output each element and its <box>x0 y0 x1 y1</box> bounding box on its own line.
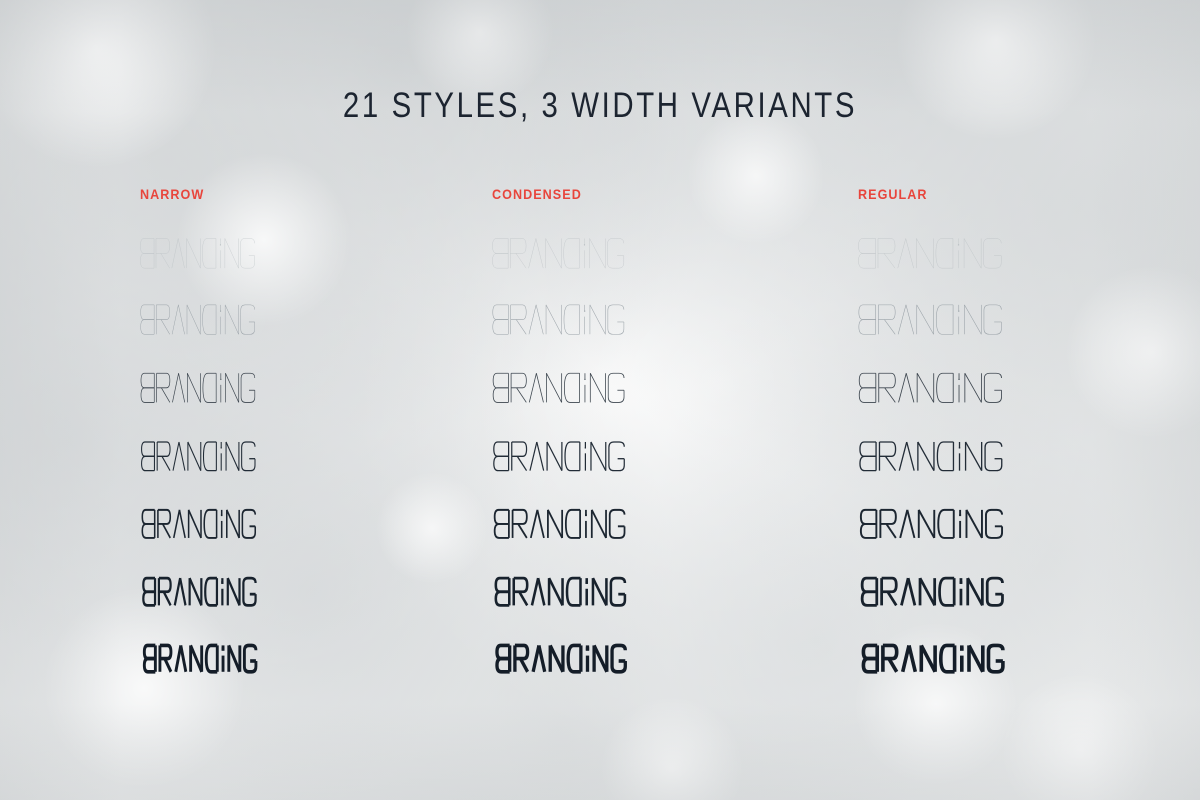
specimen-word <box>858 304 1002 335</box>
specimen-word <box>858 574 1007 610</box>
specimen-word <box>858 372 1003 404</box>
specimen-word <box>858 640 1008 677</box>
specimen-word <box>492 372 625 404</box>
specimen-word <box>858 238 1002 269</box>
column-header-regular: REGULAR <box>858 186 928 202</box>
specimen-word <box>492 238 624 269</box>
specimen-word <box>140 507 258 541</box>
specimen-word <box>140 238 255 269</box>
column-header-narrow: NARROW <box>140 186 204 202</box>
column-header-condensed: CONDENSED <box>492 186 582 202</box>
font-specimen-sheet: 21 STYLES, 3 WIDTH VARIANTS NARROWCONDEN… <box>0 0 1200 800</box>
specimen-word <box>140 372 256 404</box>
specimen-word <box>140 640 260 677</box>
specimen-word <box>492 507 627 541</box>
specimen-word <box>858 507 1005 541</box>
specimen-word <box>140 574 259 610</box>
specimen-word <box>140 304 255 335</box>
specimen-word <box>492 574 629 610</box>
specimen-word <box>492 640 630 677</box>
specimen-word <box>492 440 626 473</box>
specimen-content: 21 STYLES, 3 WIDTH VARIANTS NARROWCONDEN… <box>0 0 1200 800</box>
specimen-word <box>492 304 625 335</box>
specimen-word <box>140 440 257 473</box>
specimen-word <box>858 440 1004 473</box>
width-variant-columns: NARROWCONDENSEDREGULAR <box>0 0 1200 800</box>
